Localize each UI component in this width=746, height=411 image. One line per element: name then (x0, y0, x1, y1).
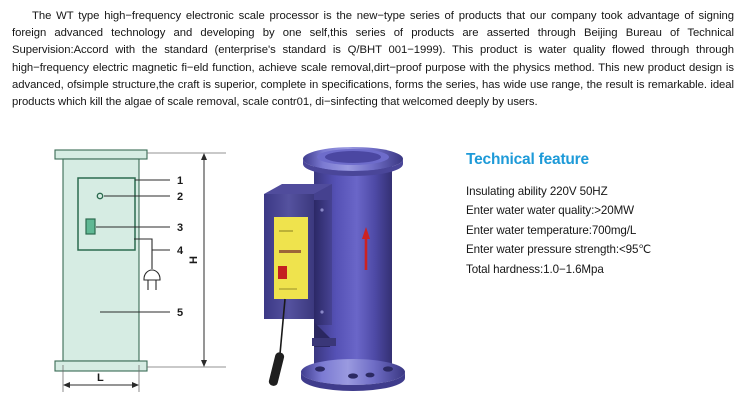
product-description-paragraph: The WT type high−frequency electronic sc… (12, 8, 734, 111)
dimension-width-arrow-right (132, 382, 139, 388)
product-bottom-flange (301, 359, 405, 385)
schematic-callout-1: 1 (177, 175, 183, 187)
schematic-callout-4: 4 (177, 245, 184, 257)
spec-item-insulating-ability: Insulating ability 220V 50HZ (466, 182, 738, 201)
technical-feature-title: Technical feature (466, 151, 738, 169)
plug-icon (144, 270, 160, 280)
product-control-box-side (314, 200, 332, 325)
schematic-callout-3: 3 (177, 222, 183, 234)
schematic-callout-2: 2 (177, 191, 183, 203)
dimension-width-arrow-left (63, 382, 70, 388)
dimension-height-label: H (188, 256, 200, 264)
spec-item-water-quality: Enter water water quality:>20MW (466, 201, 738, 220)
technical-spec-list: Insulating ability 220V 50HZ Enter water… (466, 182, 738, 279)
description-text: The WT type high−frequency electronic sc… (12, 10, 734, 108)
schematic-switch-block (86, 219, 95, 234)
schematic-top-flange (55, 150, 147, 159)
product-bottom-flange-bolt-3 (383, 366, 393, 371)
technical-feature-section: Technical feature Insulating ability 220… (466, 151, 738, 279)
dimension-width-label: L (97, 372, 104, 384)
product-label-text-line-1 (279, 230, 293, 232)
spec-item-total-hardness: Total hardness:1.0−1.6Mpa (466, 260, 738, 279)
spec-item-water-pressure-strength: Enter water pressure strength:<95℃ (466, 240, 738, 259)
product-photo (252, 142, 452, 404)
schematic-diagram: 1 2 3 4 5 H L (30, 140, 245, 400)
product-bottom-flange-bolt-1 (315, 366, 325, 371)
product-probe-head (268, 352, 285, 387)
product-box-screw-bottom (320, 310, 323, 313)
product-drain-valve (312, 338, 336, 346)
schematic-cabinet-body (63, 159, 139, 361)
dimension-height-arrow-bottom (201, 360, 207, 367)
product-bottom-flange-bolt-4 (366, 373, 375, 378)
product-top-flange-bore (325, 151, 381, 163)
product-emergency-button (278, 266, 287, 279)
product-label-text-line-2 (279, 250, 301, 253)
product-bottom-flange-bolt-2 (348, 373, 358, 378)
schematic-bottom-flange (55, 361, 147, 371)
product-box-screw-top (320, 208, 323, 211)
schematic-callout-5: 5 (177, 307, 183, 319)
spec-item-water-temperature: Enter water temperature:700mg/L (466, 221, 738, 240)
dimension-height-arrow-top (201, 153, 207, 160)
product-yellow-label (274, 217, 308, 299)
product-label-text-line-3 (279, 288, 297, 290)
